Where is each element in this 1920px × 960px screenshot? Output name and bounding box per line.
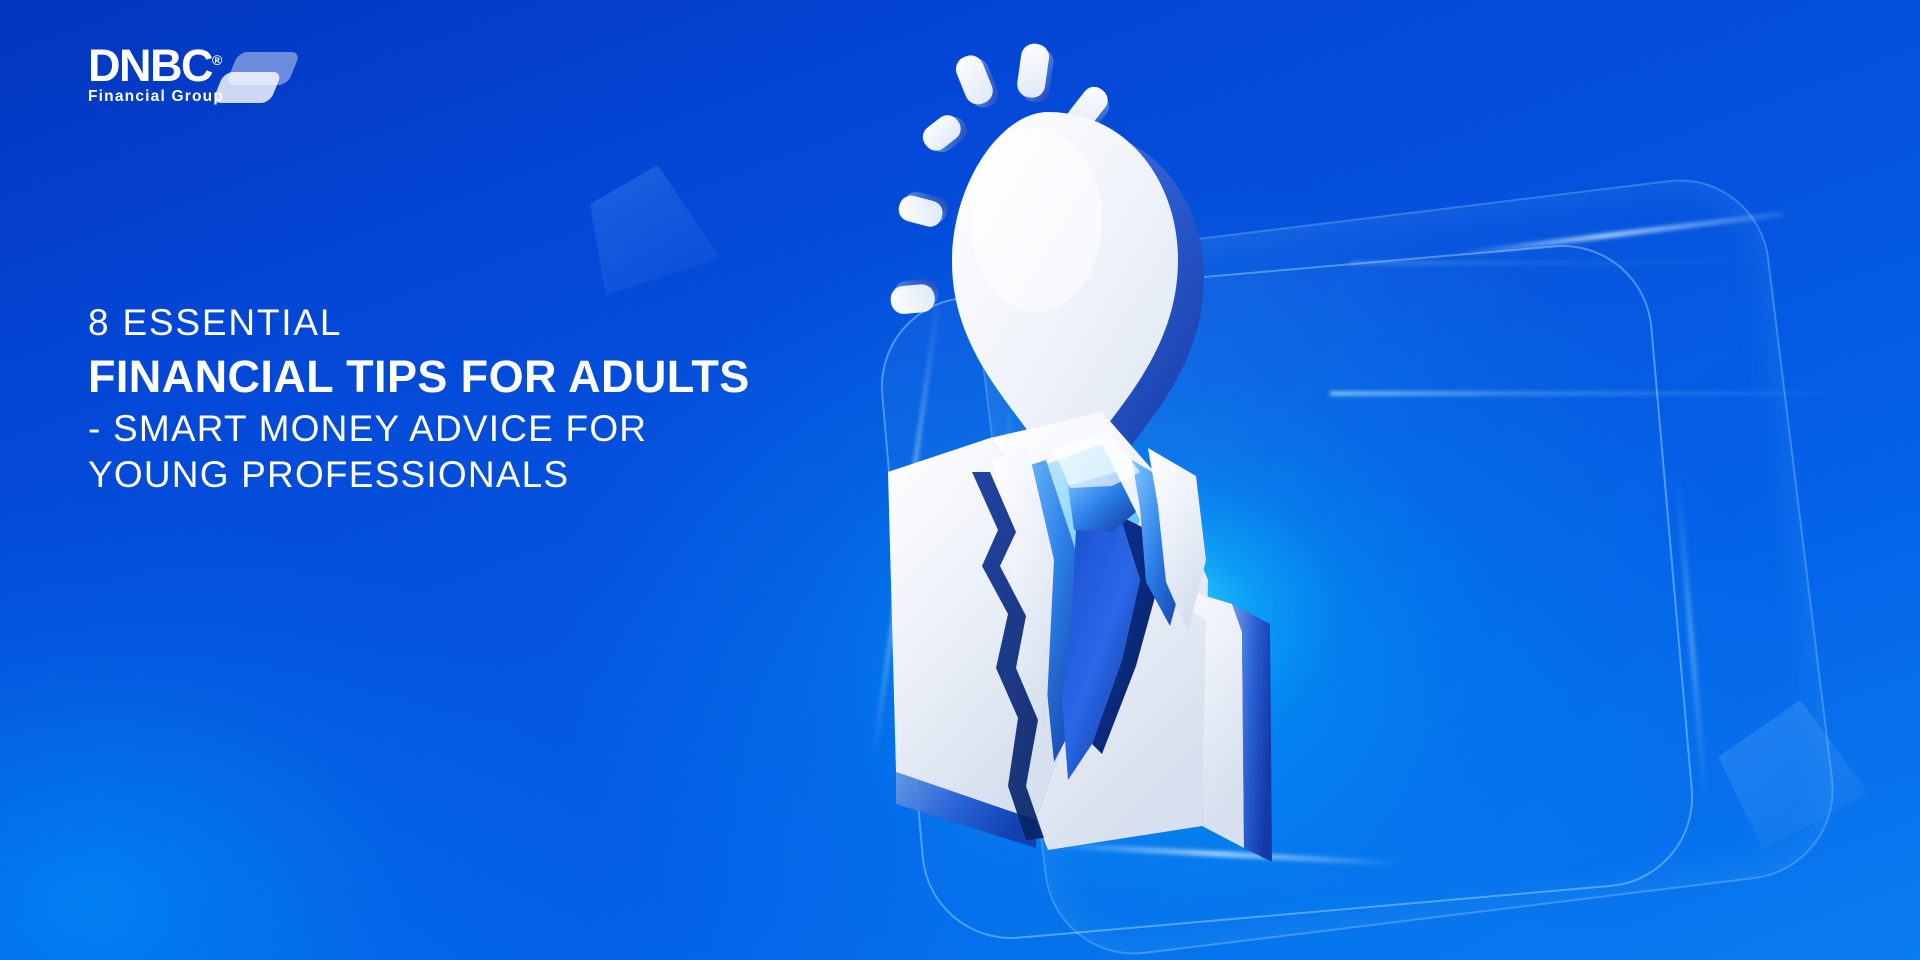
light-streak-primary — [1330, 392, 1870, 395]
light-streak-secondary — [1350, 262, 1820, 264]
headline-block: 8 ESSENTIAL FINANCIAL TIPS FOR ADULTS - … — [88, 300, 750, 497]
decorative-polygon-left — [590, 165, 720, 295]
brand-logo[interactable]: DNBC® Financial Group — [88, 44, 298, 114]
brand-logo-tagline: Financial Group — [88, 88, 224, 106]
idea-ray-1 — [918, 108, 972, 160]
headline-title: FINANCIAL TIPS FOR ADULTS — [88, 351, 750, 402]
idea-ray-3 — [1015, 42, 1056, 104]
headline-subtitle-line2: YOUNG PROFESSIONALS — [88, 452, 750, 497]
idea-ray-8 — [889, 278, 940, 315]
brand-logo-text: DNBC® Financial Group — [88, 44, 224, 106]
panel-glow-right — [1676, 480, 1707, 799]
suit-body — [888, 412, 1272, 862]
headline-eyebrow: 8 ESSENTIAL — [88, 300, 750, 345]
brand-logo-name: DNBC — [88, 40, 212, 91]
registered-trademark-icon: ® — [212, 52, 222, 68]
hero-illustration — [840, 20, 1400, 920]
banner-root: DNBC® Financial Group 8 ESSENTIAL FINANC… — [0, 0, 1920, 960]
brand-logo-wordmark: DNBC® — [88, 44, 224, 87]
panel-glow-top — [1456, 212, 1784, 256]
idea-ray-7 — [896, 188, 950, 230]
decorative-polygon-right — [1718, 700, 1868, 850]
idea-ray-2 — [952, 50, 1002, 113]
headline-subtitle-line1: - SMART MONEY ADVICE FOR — [88, 406, 750, 451]
brand-logo-mark — [218, 52, 298, 114]
